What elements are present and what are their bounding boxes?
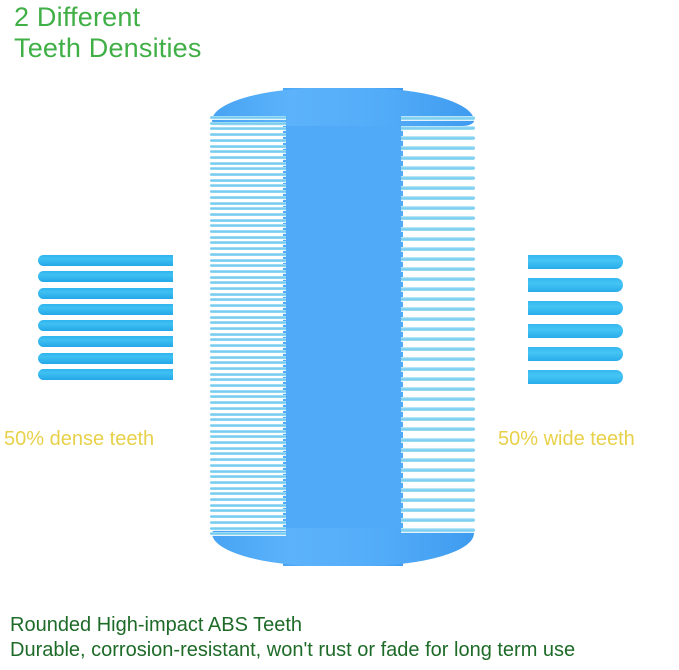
comb-tooth-dense <box>210 395 286 398</box>
comb-tooth-wide <box>401 498 475 502</box>
page-title: 2 Different Teeth Densities <box>14 2 344 64</box>
comb-tooth-dense <box>210 350 286 353</box>
comb-tooth-wide <box>401 438 475 442</box>
feature-line-durability: Durable, corrosion-resistant, won't rust… <box>10 638 675 663</box>
comb-tooth-dense <box>210 116 286 119</box>
sample-bar-dense <box>38 369 173 380</box>
comb-tooth-dense <box>210 509 286 512</box>
comb-tooth-wide <box>401 247 475 251</box>
comb-tooth-dense <box>210 532 286 535</box>
comb-tooth-dense <box>210 202 286 205</box>
comb-tooth-wide <box>401 176 475 180</box>
comb-tooth-dense <box>210 287 286 290</box>
comb-tooth-wide <box>401 267 475 271</box>
comb-tooth-wide <box>401 357 475 361</box>
comb-tooth-wide <box>401 206 475 210</box>
sample-bar-dense <box>38 336 173 347</box>
comb-tooth-wide <box>401 337 475 341</box>
comb-tooth-dense <box>210 224 286 227</box>
comb-tooth-wide <box>401 468 475 472</box>
comb-tooth-dense <box>210 327 286 330</box>
sample-bar-wide <box>528 278 623 292</box>
comb-tooth-wide <box>401 317 475 321</box>
comb-tooth-dense <box>210 179 286 182</box>
comb-tooth-wide <box>401 216 475 220</box>
comb-tooth-dense <box>210 447 286 450</box>
comb-tooth-wide <box>401 417 475 421</box>
comb-tooth-wide <box>401 448 475 452</box>
comb-tooth-wide <box>401 458 475 462</box>
comb-tooth-wide <box>401 257 475 261</box>
comb-tooth-wide <box>401 277 475 281</box>
comb-tooth-wide <box>401 116 475 120</box>
comb-tooth-wide <box>401 528 475 532</box>
comb-tooth-wide <box>401 427 475 431</box>
comb-tooth-dense <box>210 424 286 427</box>
comb-tooth-dense <box>210 264 286 267</box>
comb-tooth-dense <box>210 276 286 279</box>
feature-line-material: Rounded High-impact ABS Teeth <box>10 613 675 638</box>
comb-tooth-wide <box>401 196 475 200</box>
comb-tooth-dense <box>210 464 286 467</box>
wide-teeth-label: 50% wide teeth <box>498 427 635 451</box>
comb-tooth-dense <box>210 122 286 125</box>
comb-tooth-dense <box>210 373 286 376</box>
comb-tooth-wide <box>401 327 475 331</box>
sample-bar-wide <box>528 255 623 269</box>
comb-tooth-dense <box>210 384 286 387</box>
comb-tooth-dense <box>210 521 286 524</box>
comb-tooth-dense <box>210 481 286 484</box>
comb-tooth-dense <box>210 156 286 159</box>
comb-tooth-dense <box>210 367 286 370</box>
comb-tooth-dense <box>210 487 286 490</box>
comb-tooth-wide <box>401 377 475 381</box>
comb-body-fill <box>283 106 403 548</box>
comb-tooth-dense <box>210 527 286 530</box>
sample-bar-dense <box>38 320 173 331</box>
comb-tooth-wide <box>401 126 475 130</box>
comb-tooth-dense <box>210 162 286 165</box>
comb-tooth-dense <box>210 293 286 296</box>
comb-tooth-dense <box>210 418 286 421</box>
comb-tooth-dense <box>210 304 286 307</box>
comb-tooth-wide <box>401 407 475 411</box>
comb-tooth-dense <box>210 401 286 404</box>
comb-tooth-dense <box>210 236 286 239</box>
comb-tooth-dense <box>210 145 286 148</box>
comb-tooth-dense <box>210 430 286 433</box>
comb-tooth-dense <box>210 361 286 364</box>
comb-tooth-wide <box>401 307 475 311</box>
sample-bar-dense <box>38 271 173 282</box>
sample-bar-wide <box>528 347 623 361</box>
comb-tooth-wide <box>401 166 475 170</box>
sample-bar-dense <box>38 288 173 299</box>
comb-tooth-wide <box>401 146 475 150</box>
comb-tooth-dense <box>210 247 286 250</box>
comb-tooth-wide <box>401 186 475 190</box>
comb-tooth-dense <box>210 196 286 199</box>
comb-tooth-dense <box>210 338 286 341</box>
feature-description: Rounded High-impact ABS Teeth Durable, c… <box>10 613 675 663</box>
comb-tooth-wide <box>401 237 475 241</box>
sample-bar-dense <box>38 255 173 266</box>
comb-tooth-dense <box>210 316 286 319</box>
comb-tooth-wide <box>401 136 475 140</box>
comb-tooth-dense <box>210 190 286 193</box>
sample-bar-dense <box>38 304 173 315</box>
comb-tooth-dense <box>210 281 286 284</box>
comb-tooth-dense <box>210 184 286 187</box>
comb-tooth-dense <box>210 133 286 136</box>
comb-tooth-dense <box>210 333 286 336</box>
comb-dense-teeth-section <box>210 116 286 538</box>
comb-tooth-dense <box>210 150 286 153</box>
comb-tooth-dense <box>210 470 286 473</box>
sample-bar-wide <box>528 301 623 315</box>
comb-tooth-dense <box>210 139 286 142</box>
comb-illustration <box>205 88 480 566</box>
comb-tooth-dense <box>210 441 286 444</box>
comb-tooth-dense <box>210 498 286 501</box>
comb-tooth-dense <box>210 356 286 359</box>
comb-tooth-dense <box>210 435 286 438</box>
comb-tooth-dense <box>210 167 286 170</box>
comb-tooth-wide <box>401 367 475 371</box>
comb-tooth-wide <box>401 518 475 522</box>
comb-tooth-dense <box>210 475 286 478</box>
comb-tooth-dense <box>210 219 286 222</box>
comb-tooth-dense <box>210 504 286 507</box>
comb-tooth-dense <box>210 253 286 256</box>
comb-tooth-wide <box>401 347 475 351</box>
comb-tooth-dense <box>210 207 286 210</box>
comb-tooth-wide <box>401 227 475 231</box>
comb-tooth-dense <box>210 492 286 495</box>
comb-tooth-wide <box>401 156 475 160</box>
comb-tooth-dense <box>210 458 286 461</box>
comb-tooth-dense <box>210 321 286 324</box>
comb-tooth-wide <box>401 508 475 512</box>
comb-tooth-dense <box>210 298 286 301</box>
comb-tooth-wide <box>401 488 475 492</box>
comb-tooth-dense <box>210 310 286 313</box>
comb-tooth-dense <box>210 173 286 176</box>
comb-tooth-dense <box>210 127 286 130</box>
comb-tooth-wide <box>401 397 475 401</box>
comb-tooth-wide <box>401 387 475 391</box>
comb-tooth-wide <box>401 297 475 301</box>
comb-tooth-dense <box>210 378 286 381</box>
comb-tooth-dense <box>210 407 286 410</box>
sample-bar-dense <box>38 353 173 364</box>
sample-bar-wide <box>528 324 623 338</box>
comb-tooth-dense <box>210 390 286 393</box>
dense-teeth-label: 50% dense teeth <box>4 427 154 451</box>
comb-tooth-dense <box>210 213 286 216</box>
comb-tooth-dense <box>210 515 286 518</box>
comb-tooth-wide <box>401 287 475 291</box>
comb-tooth-dense <box>210 452 286 455</box>
comb-tooth-dense <box>210 259 286 262</box>
comb-tooth-dense <box>210 241 286 244</box>
comb-tooth-wide <box>401 478 475 482</box>
comb-tooth-dense <box>210 270 286 273</box>
sample-bar-wide <box>528 370 623 384</box>
comb-tooth-dense <box>210 344 286 347</box>
comb-tooth-dense <box>210 413 286 416</box>
comb-wide-teeth-section <box>401 116 475 538</box>
comb-tooth-dense <box>210 230 286 233</box>
